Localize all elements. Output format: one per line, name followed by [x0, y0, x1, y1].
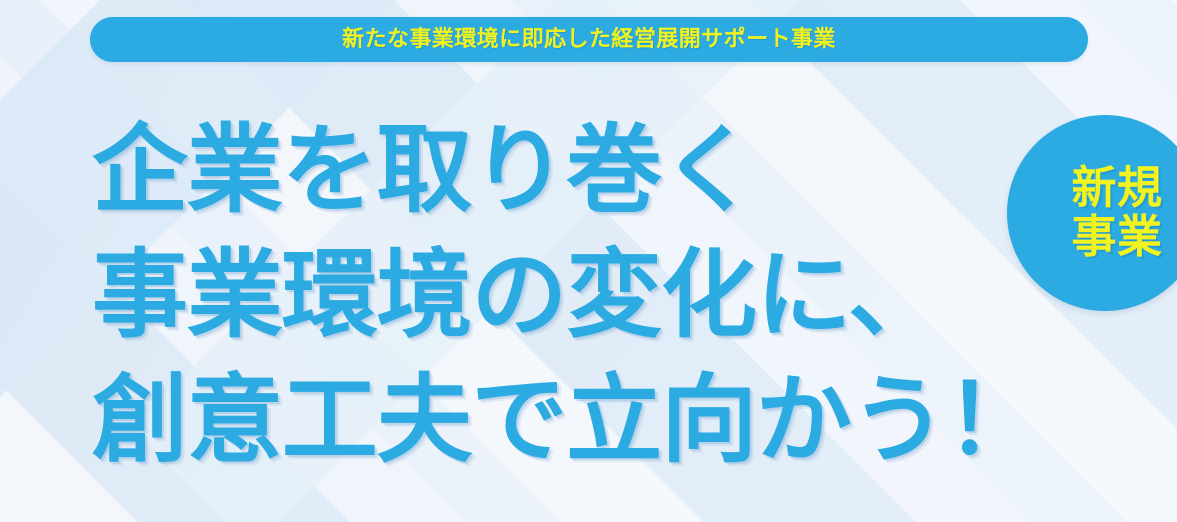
headline-line-2: 事業環境の変化に、 [92, 233, 1040, 358]
headline-line-1-text: 企業を取り巻く [92, 114, 756, 226]
page-title: 企業を取り巻く 事業環境の変化に、 創意工夫で立向かう！ [92, 108, 1040, 482]
headline-line-1: 企業を取り巻く [92, 108, 1040, 233]
program-name-text: 新たな事業環境に即応した経営展開サポート事業 [342, 29, 836, 51]
headline-line-2-text: 事業環境の変化に、 [92, 239, 943, 351]
badge-label-line-1: 新規 [1072, 164, 1163, 213]
hero-banner: 新たな事業環境に即応した経営展開サポート事業 新規 事業 企業を取り巻く 事業環… [0, 0, 1177, 522]
badge-label-line-2: 事業 [1072, 213, 1163, 262]
headline-line-3: 創意工夫で立向かう！ [92, 358, 1040, 483]
headline-line-3-text: 創意工夫で立向かう！ [92, 364, 1040, 476]
program-name-ribbon: 新たな事業環境に即応した経営展開サポート事業 [90, 17, 1088, 62]
